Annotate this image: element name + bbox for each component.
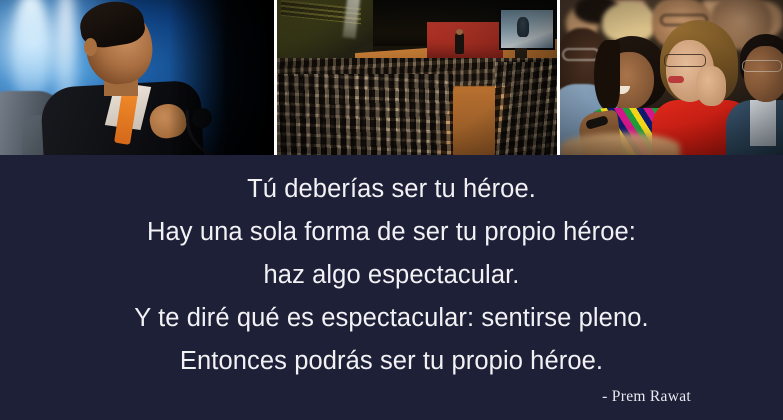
quote-line-1: Tú deberías ser tu héroe. [0,168,783,211]
photo-3-vignette [560,0,783,155]
photo-1-shadow [169,0,274,155]
quote-block: Tú deberías ser tu héroe. Hay una sola f… [0,155,783,420]
photo-speaker-portrait [0,0,274,155]
quote-line-5: Entonces podrás ser tu propio héroe. [0,340,783,383]
quote-line-4: Y te diré qué es espectacular: sentirse … [0,297,783,340]
photo-auditorium-crowd [277,0,557,155]
quote-line-3: haz algo espectacular. [0,254,783,297]
quote-attribution: - Prem Rawat [602,388,691,406]
quote-line-2: Hay una sola forma de ser tu propio héro… [0,211,783,254]
speaker-ear [84,38,97,56]
quote-poster: Tú deberías ser tu héroe. Hay una sola f… [0,0,783,420]
photo-2-vignette [277,0,557,155]
photo-strip [0,0,783,155]
photo-audience-faces [560,0,783,155]
